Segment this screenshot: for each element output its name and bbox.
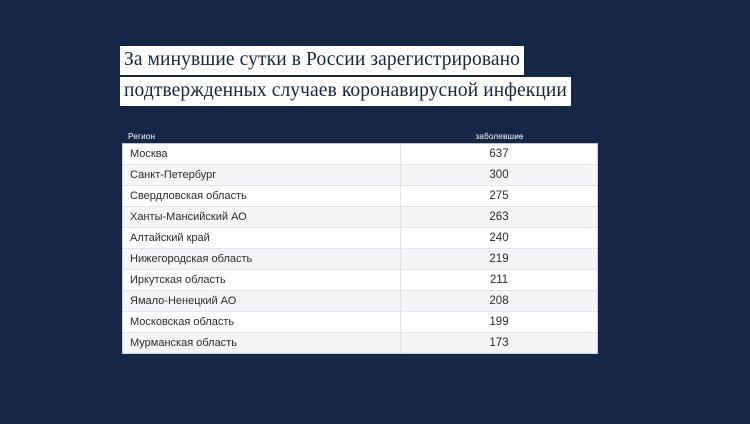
cell-cases: 211 — [401, 274, 597, 286]
cell-cases: 173 — [401, 337, 597, 349]
cell-cases: 263 — [401, 211, 597, 223]
column-header-region: Регион — [122, 132, 401, 141]
cell-cases: 300 — [401, 169, 597, 181]
column-header-cases: заболевшие — [401, 132, 598, 141]
cell-region: Мурманская область — [123, 333, 401, 353]
table-row: Мурманская область 173 — [123, 332, 597, 353]
page-title: За минувшие сутки в России зарегистриров… — [120, 46, 680, 106]
table-row: Иркутская область 211 — [123, 269, 597, 290]
title-line-2: подтвержденных случаев коронавирусной ин… — [120, 77, 571, 106]
cell-cases: 275 — [401, 190, 597, 202]
cell-cases: 219 — [401, 253, 597, 265]
table-row: Московская область 199 — [123, 311, 597, 332]
table-row: Москва 637 — [123, 144, 597, 164]
table-body: Москва 637 Санкт-Петербург 300 Свердловс… — [122, 144, 598, 354]
title-line-1: За минувшие сутки в России зарегистриров… — [120, 46, 524, 75]
cell-region: Алтайский край — [123, 228, 401, 248]
table-row: Ямало-Ненецкий АО 208 — [123, 290, 597, 311]
cell-region: Московская область — [123, 312, 401, 332]
table-row: Алтайский край 240 — [123, 227, 597, 248]
cell-cases: 199 — [401, 316, 597, 328]
cell-region: Нижегородская область — [123, 249, 401, 269]
cell-region: Санкт-Петербург — [123, 165, 401, 185]
cell-cases: 240 — [401, 232, 597, 244]
table-header-row: Регион заболевшие — [122, 132, 598, 144]
table-row: Ханты-Мансийский АО 263 — [123, 206, 597, 227]
cases-table: Регион заболевшие Москва 637 Санкт-Петер… — [122, 132, 598, 354]
table-row: Свердловская область 275 — [123, 185, 597, 206]
cell-region: Ханты-Мансийский АО — [123, 207, 401, 227]
cell-region: Иркутская область — [123, 270, 401, 290]
cell-region: Москва — [123, 144, 401, 164]
table-row: Санкт-Петербург 300 — [123, 164, 597, 185]
cell-region: Ямало-Ненецкий АО — [123, 291, 401, 311]
table-row: Нижегородская область 219 — [123, 248, 597, 269]
cell-cases: 637 — [401, 148, 597, 160]
cell-region: Свердловская область — [123, 186, 401, 206]
cell-cases: 208 — [401, 295, 597, 307]
